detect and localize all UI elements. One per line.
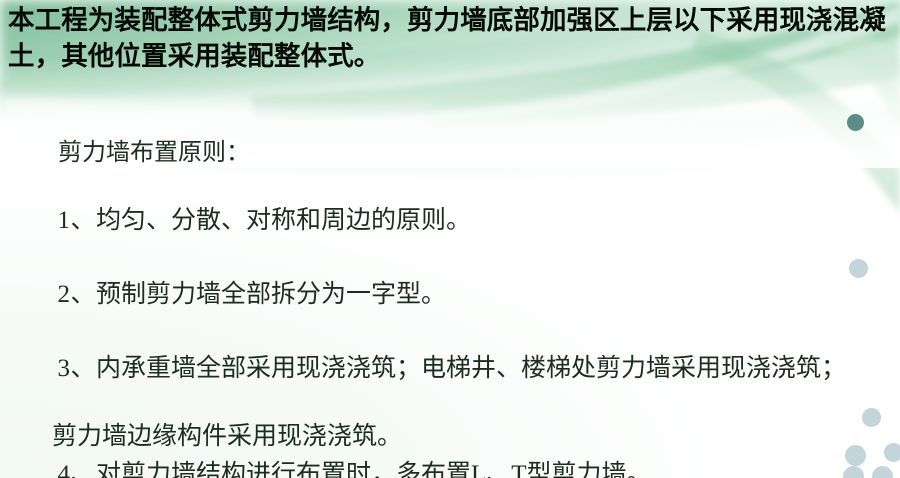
list-item-4-number: 4、 <box>58 461 97 478</box>
list-item-1-number: 1、 <box>58 207 97 234</box>
list-item-4-line-1: 对剪力墙结构进行布置时，多布置L、T型剪力墙。 <box>96 461 652 478</box>
list-item-4: 4、对剪力墙结构进行布置时，多布置L、T型剪力墙。 <box>20 424 652 478</box>
body-intro-text: 剪力墙布置原则： <box>58 140 250 166</box>
slide-title: 本工程为装配整体式剪力墙结构，剪力墙底部加强区上层以下采用现浇混凝土，其他位置采… <box>8 2 892 74</box>
list-item-3-number: 3、 <box>58 355 97 382</box>
list-item-2-number: 2、 <box>58 281 97 308</box>
list-item-1-line-1: 均匀、分散、对称和周边的原则。 <box>96 207 471 234</box>
list-item-2-line-1: 预制剪力墙全部拆分为一字型。 <box>96 281 446 308</box>
list-item-3-line-1: 内承重墙全部采用现浇浇筑；电梯井、楼梯处剪力墙采用现浇浇筑； <box>96 355 846 382</box>
slide-canvas: 本工程为装配整体式剪力墙结构，剪力墙底部加强区上层以下采用现浇混凝土，其他位置采… <box>0 0 900 478</box>
